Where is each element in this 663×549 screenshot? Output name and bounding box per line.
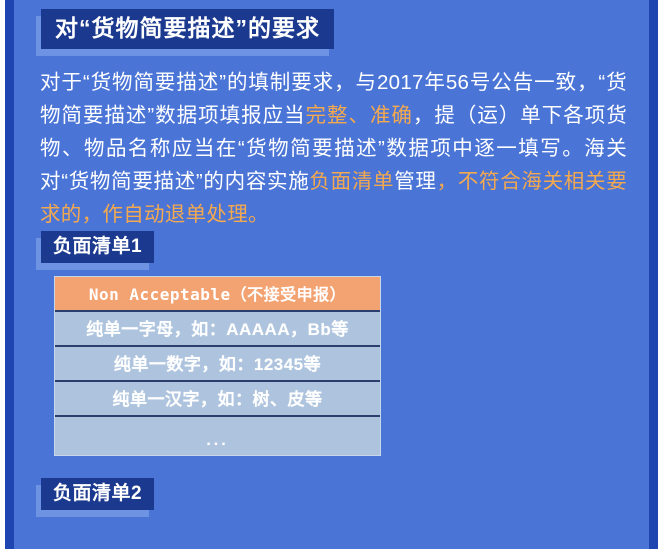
content-canvas: 对“货物简要描述”的要求 对于“货物简要描述”的填制要求，与2017年56号公告… (14, 0, 649, 549)
table-row: 纯单一数字，如：12345等 (55, 347, 380, 382)
left-edge-stripe (5, 0, 14, 549)
table-row: 纯单一字母，如：AAAAA，Bb等 (55, 312, 380, 347)
section-2-label: 负面清单2 (41, 478, 154, 510)
table-row-ellipsis: ... (55, 417, 380, 455)
negative-list-1-table-wrapper: Non Acceptable（不接受申报） 纯单一字母，如：AAAAA，Bb等 … (54, 276, 649, 456)
page-title: 对“货物简要描述”的要求 (41, 9, 334, 49)
paragraph-segment-3: 管理 (394, 170, 436, 193)
paragraph-highlight-2: 负面清单 (309, 170, 394, 193)
table-row: 纯单一汉字，如：树、皮等 (55, 382, 380, 417)
negative-list-1-table: Non Acceptable（不接受申报） 纯单一字母，如：AAAAA，Bb等 … (54, 276, 381, 456)
section-badge-negative-list-2: 负面清单2 (41, 478, 154, 510)
table-header-row: Non Acceptable（不接受申报） (55, 277, 380, 312)
paragraph-highlight-1: 完整、准确 (306, 104, 413, 127)
section-1-label: 负面清单1 (41, 231, 154, 263)
section-badge-negative-list-1: 负面清单1 (41, 231, 154, 263)
body-paragraph: 对于“货物简要描述”的填制要求，与2017年56号公告一致，“货物简要描述”数据… (40, 66, 627, 231)
right-edge-stripe (649, 0, 658, 549)
page-title-badge: 对“货物简要描述”的要求 (41, 9, 334, 49)
page-root: 对“货物简要描述”的要求 对于“货物简要描述”的填制要求，与2017年56号公告… (0, 0, 663, 549)
